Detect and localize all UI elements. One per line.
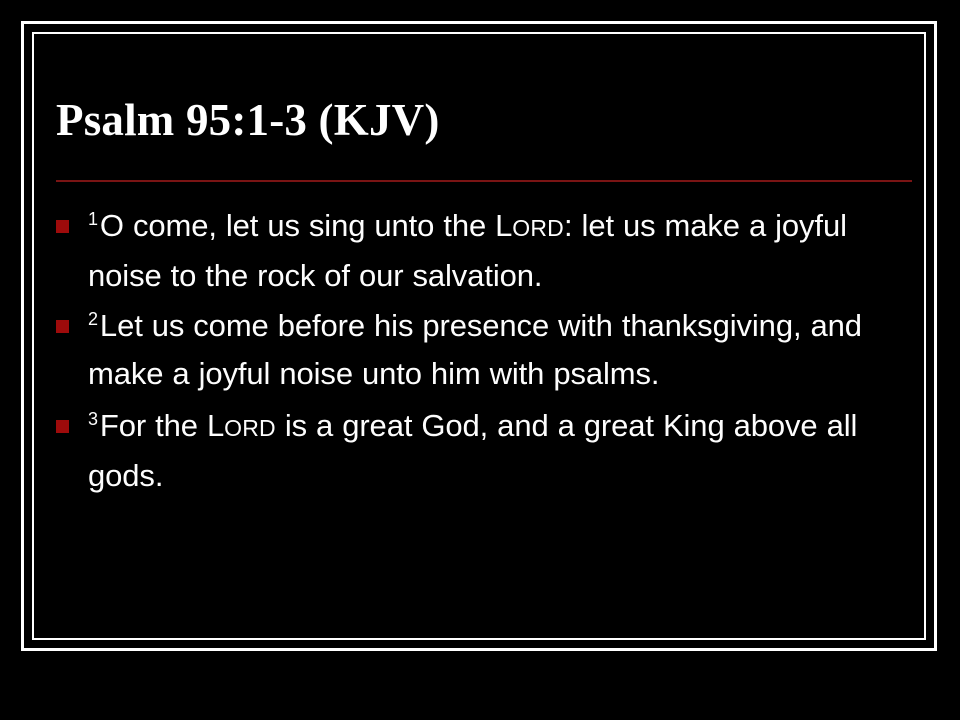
page-title: Psalm 95:1-3 (KJV) bbox=[56, 92, 912, 148]
verse-number: 2 bbox=[88, 309, 100, 329]
verse-text: 1O come, let us sing unto the LORD: let … bbox=[88, 202, 912, 300]
divine-name-smallcaps: ORD bbox=[512, 215, 564, 241]
list-item: 3For the LORD is a great God, and a grea… bbox=[52, 402, 912, 500]
divine-name-smallcaps: ORD bbox=[224, 415, 276, 441]
bullet-square-icon bbox=[56, 320, 69, 333]
list-item: 2Let us come before his presence with th… bbox=[52, 302, 912, 400]
divine-name-initial: L bbox=[495, 208, 512, 243]
bullet-square-icon bbox=[56, 420, 69, 433]
verse-text: 3For the LORD is a great God, and a grea… bbox=[88, 402, 912, 500]
presentation-slide: Psalm 95:1-3 (KJV) 1O come, let us sing … bbox=[0, 0, 960, 720]
bullet-square-icon bbox=[56, 220, 69, 233]
verse-number: 3 bbox=[88, 409, 100, 429]
verse-text: 2Let us come before his presence with th… bbox=[88, 302, 912, 400]
divine-name-initial: L bbox=[207, 408, 224, 443]
title-block: Psalm 95:1-3 (KJV) bbox=[56, 92, 912, 148]
title-divider-rule bbox=[56, 180, 912, 182]
verse-segment-before: Let us come before his presence with tha… bbox=[88, 308, 862, 391]
verse-number: 1 bbox=[88, 209, 100, 229]
verse-segment-before: O come, let us sing unto the bbox=[100, 208, 495, 243]
verse-list: 1O come, let us sing unto the LORD: let … bbox=[52, 202, 912, 502]
verse-segment-before: For the bbox=[100, 408, 207, 443]
list-item: 1O come, let us sing unto the LORD: let … bbox=[52, 202, 912, 300]
